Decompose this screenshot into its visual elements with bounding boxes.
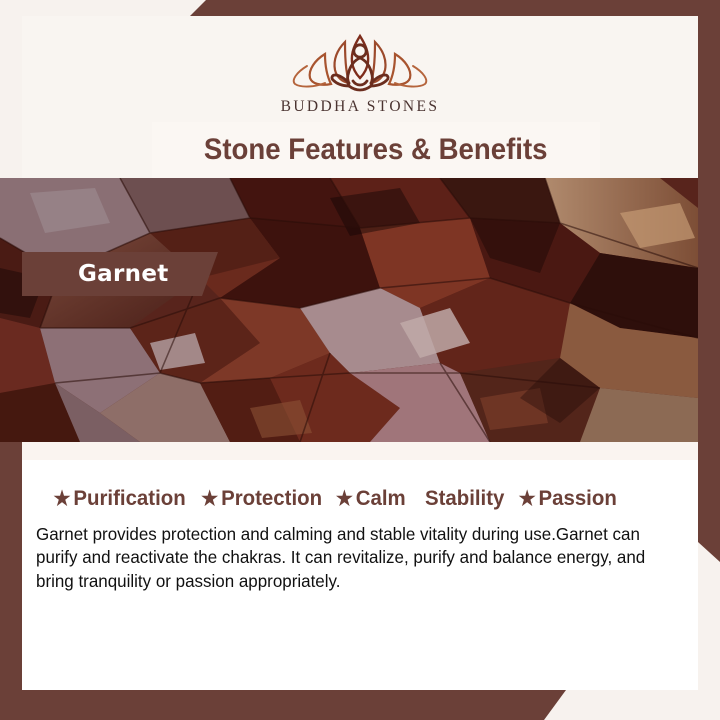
lotus-meditation-icon — [285, 28, 435, 96]
feature-item: ★Protection — [201, 486, 322, 511]
feature-label: Stability — [425, 486, 504, 511]
page-title: Stone Features & Benefits — [204, 133, 548, 167]
star-icon: ★ — [518, 489, 535, 509]
star-icon: ★ — [201, 489, 218, 509]
stone-name-banner: Garnet — [22, 252, 218, 296]
star-icon: ★ — [53, 489, 70, 509]
frame-bar-bottom — [0, 690, 566, 720]
feature-item: ★Calm — [336, 486, 406, 511]
frame-bar-right — [698, 16, 720, 562]
feature-item: ★Purification — [53, 486, 185, 511]
title-banner: Stone Features & Benefits — [152, 122, 600, 178]
feature-label: Passion — [538, 486, 616, 511]
stone-name: Garnet — [22, 261, 169, 287]
brand-name: BUDDHA STONES — [281, 98, 440, 116]
frame-bar-left — [0, 420, 22, 700]
stone-photo — [0, 178, 698, 442]
photo-underline-strip — [22, 442, 698, 460]
feature-label: Purification — [73, 486, 185, 511]
feature-label: Protection — [221, 486, 322, 511]
brand-header: BUDDHA STONES — [22, 16, 698, 122]
content-area: ★Purification★Protection★Calm★Stability★… — [22, 460, 698, 690]
feature-list: ★Purification★Protection★Calm★Stability★… — [36, 486, 686, 511]
star-icon: ★ — [336, 489, 353, 509]
card-body: BUDDHA STONES Stone Features & Benefits — [22, 16, 698, 690]
feature-item: ★Stability — [419, 486, 504, 511]
frame-bar-top — [190, 0, 720, 16]
feature-item: ★Passion — [518, 486, 616, 511]
stone-description: Garnet provides protection and calming a… — [36, 523, 667, 593]
garnet-crystal-cluster-graphic — [0, 178, 698, 442]
stone-info-card: BUDDHA STONES Stone Features & Benefits — [0, 0, 720, 720]
feature-label: Calm — [356, 486, 406, 511]
